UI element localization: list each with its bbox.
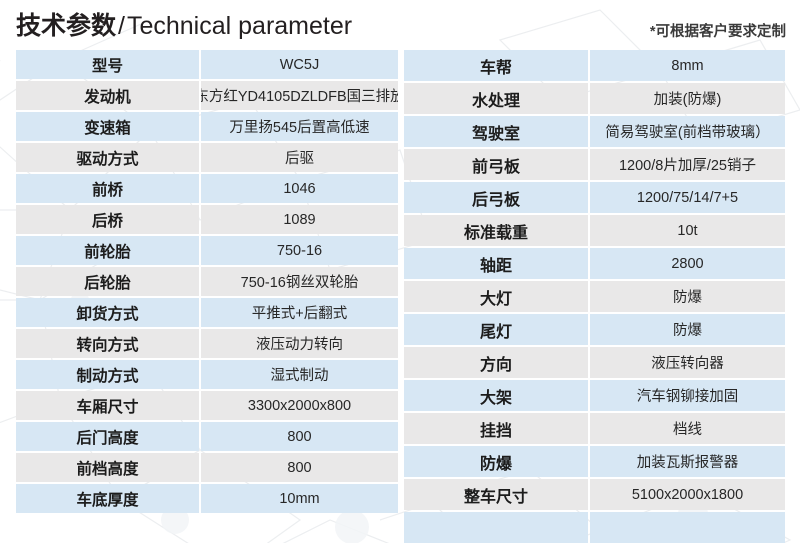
spec-label-cell: 防爆 <box>404 446 588 477</box>
page-title-english: Technical parameter <box>127 12 352 40</box>
spec-label-cell: 车帮 <box>404 50 588 81</box>
spec-value-cell: 750-16钢丝双轮胎 <box>201 267 398 296</box>
spec-label-cell: 前档高度 <box>16 453 199 482</box>
table-row: 型号WC5J <box>16 50 398 79</box>
spec-label-cell: 标准载重 <box>404 215 588 246</box>
spec-value-cell: WC5J <box>201 50 398 79</box>
page-header: 技术参数/Technical parameter *可根据客户要求定制 <box>0 0 800 48</box>
table-row: 发动机东方红YD4105DZLDFB国三排放 <box>16 81 398 110</box>
page-title-separator: / <box>116 12 127 40</box>
spec-label-cell: 方向 <box>404 347 588 378</box>
spec-value-cell: 800 <box>201 453 398 482</box>
spec-label-cell: 后轮胎 <box>16 267 199 296</box>
spec-value-cell: 后驱 <box>201 143 398 172</box>
table-row: 后桥1089 <box>16 205 398 234</box>
spec-value-cell: 1200/75/14/7+5 <box>590 182 785 213</box>
spec-label-cell: 制动方式 <box>16 360 199 389</box>
table-row: 大架汽车钢铆接加固 <box>404 380 785 411</box>
spec-value-cell: 1200/8片加厚/25销子 <box>590 149 785 180</box>
spec-value-cell: 3300x2000x800 <box>201 391 398 420</box>
table-row: 车底厚度10mm <box>16 484 398 513</box>
spec-label-cell: 车厢尺寸 <box>16 391 199 420</box>
spec-value-cell: 1089 <box>201 205 398 234</box>
spec-value-cell: 10mm <box>201 484 398 513</box>
table-row: 后轮胎750-16钢丝双轮胎 <box>16 267 398 296</box>
spec-value-cell: 平推式+后翻式 <box>201 298 398 327</box>
spec-label-cell: 挂挡 <box>404 413 588 444</box>
table-row: 后弓板1200/75/14/7+5 <box>404 182 785 213</box>
spec-value-cell: 液压转向器 <box>590 347 785 378</box>
table-row: 车帮8mm <box>404 50 785 81</box>
spec-label-cell: 型号 <box>16 50 199 79</box>
spec-label-cell: 尾灯 <box>404 314 588 345</box>
spec-label-cell: 后门高度 <box>16 422 199 451</box>
table-row: 前桥1046 <box>16 174 398 203</box>
table-row: 水处理加装(防爆) <box>404 83 785 114</box>
table-row: 标准载重10t <box>404 215 785 246</box>
table-row: 变速箱万里扬545后置高低速 <box>16 112 398 141</box>
spec-value-cell: 简易驾驶室(前档带玻璃） <box>590 116 785 147</box>
table-row: 驾驶室简易驾驶室(前档带玻璃） <box>404 116 785 147</box>
spec-label-cell: 后弓板 <box>404 182 588 213</box>
table-row: 方向液压转向器 <box>404 347 785 378</box>
spec-value-cell: 加装(防爆) <box>590 83 785 114</box>
spec-label-cell: 前弓板 <box>404 149 588 180</box>
spec-label-cell: 大灯 <box>404 281 588 312</box>
table-row: 整车尺寸5100x2000x1800 <box>404 479 785 510</box>
spec-value-cell: 800 <box>201 422 398 451</box>
table-row: 挂挡档线 <box>404 413 785 444</box>
table-row: 车厢尺寸3300x2000x800 <box>16 391 398 420</box>
spec-table-right: 车帮8mm水处理加装(防爆)驾驶室简易驾驶室(前档带玻璃）前弓板1200/8片加… <box>404 50 785 545</box>
table-row: 驱动方式后驱 <box>16 143 398 172</box>
spec-value-cell: 1046 <box>201 174 398 203</box>
spec-label-cell: 驱动方式 <box>16 143 199 172</box>
spec-table-left: 型号WC5J发动机东方红YD4105DZLDFB国三排放变速箱万里扬545后置高… <box>16 50 398 515</box>
table-row <box>404 512 785 543</box>
table-row: 前轮胎750-16 <box>16 236 398 265</box>
spec-value-cell: 8mm <box>590 50 785 81</box>
spec-value-cell: 防爆 <box>590 281 785 312</box>
customization-note: *可根据客户要求定制 <box>650 20 786 41</box>
table-row: 大灯防爆 <box>404 281 785 312</box>
spec-label-cell: 转向方式 <box>16 329 199 358</box>
spec-label-cell: 发动机 <box>16 81 199 110</box>
table-row: 转向方式液压动力转向 <box>16 329 398 358</box>
technical-parameter-page: 技术参数/Technical parameter *可根据客户要求定制 型号WC… <box>0 0 800 543</box>
spec-label-cell: 水处理 <box>404 83 588 114</box>
spec-value-cell: 防爆 <box>590 314 785 345</box>
spec-value-cell: 加装瓦斯报警器 <box>590 446 785 477</box>
spec-label-cell <box>404 512 588 543</box>
spec-label-cell: 轴距 <box>404 248 588 279</box>
spec-value-cell: 液压动力转向 <box>201 329 398 358</box>
table-row: 制动方式湿式制动 <box>16 360 398 389</box>
spec-label-cell: 整车尺寸 <box>404 479 588 510</box>
spec-value-cell: 汽车钢铆接加固 <box>590 380 785 411</box>
spec-label-cell: 前桥 <box>16 174 199 203</box>
spec-label-cell: 车底厚度 <box>16 484 199 513</box>
spec-value-cell <box>590 512 785 543</box>
table-row: 后门高度800 <box>16 422 398 451</box>
spec-value-cell: 档线 <box>590 413 785 444</box>
page-title: 技术参数/Technical parameter <box>16 6 352 42</box>
table-row: 前档高度800 <box>16 453 398 482</box>
spec-label-cell: 卸货方式 <box>16 298 199 327</box>
spec-label-cell: 后桥 <box>16 205 199 234</box>
spec-value-cell: 750-16 <box>201 236 398 265</box>
table-row: 前弓板1200/8片加厚/25销子 <box>404 149 785 180</box>
spec-label-cell: 驾驶室 <box>404 116 588 147</box>
spec-value-cell: 10t <box>590 215 785 246</box>
spec-value-cell: 5100x2000x1800 <box>590 479 785 510</box>
spec-value-cell: 2800 <box>590 248 785 279</box>
table-row: 尾灯防爆 <box>404 314 785 345</box>
spec-label-cell: 变速箱 <box>16 112 199 141</box>
spec-value-cell: 湿式制动 <box>201 360 398 389</box>
table-row: 卸货方式平推式+后翻式 <box>16 298 398 327</box>
spec-label-cell: 大架 <box>404 380 588 411</box>
table-row: 轴距2800 <box>404 248 785 279</box>
spec-value-cell: 东方红YD4105DZLDFB国三排放 <box>201 81 398 110</box>
table-row: 防爆加装瓦斯报警器 <box>404 446 785 477</box>
spec-label-cell: 前轮胎 <box>16 236 199 265</box>
page-title-chinese: 技术参数 <box>16 12 116 40</box>
spec-value-cell: 万里扬545后置高低速 <box>201 112 398 141</box>
